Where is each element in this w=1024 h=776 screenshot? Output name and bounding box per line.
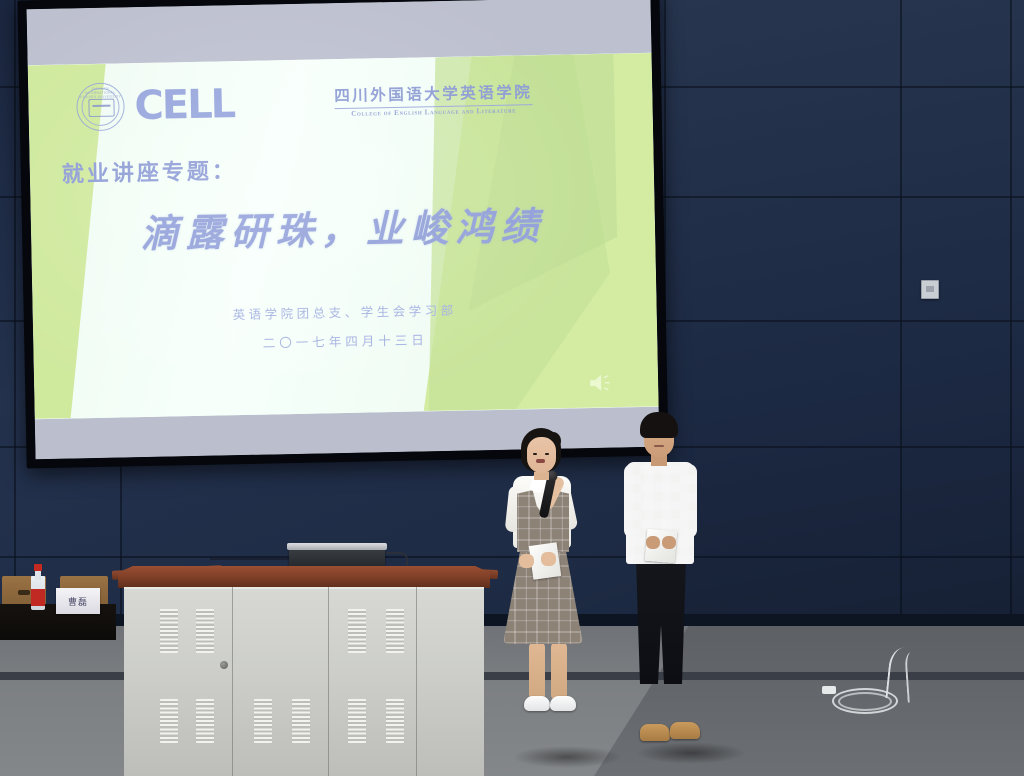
slide-header: SICHUAN INTERNATIONAL STUDIES UNIVERSITY… — [76, 69, 533, 136]
presentation-slide: SICHUAN INTERNATIONAL STUDIES UNIVERSITY… — [27, 0, 660, 459]
hair — [640, 412, 678, 438]
podium-vent — [160, 699, 178, 743]
hand-left — [519, 554, 534, 568]
bottle-neck — [35, 570, 41, 580]
wall-seam — [14, 0, 16, 640]
pants — [636, 560, 686, 684]
bottle-body — [31, 576, 45, 610]
mouth — [536, 459, 545, 463]
slide-topic-label: 就业讲座专题： — [62, 153, 238, 189]
hand-right — [541, 552, 556, 566]
slide-content: SICHUAN INTERNATIONAL STUDIES UNIVERSITY… — [28, 53, 659, 419]
cable-run-secondary — [904, 651, 929, 702]
podium-door-seam — [232, 587, 233, 776]
mouth — [654, 445, 664, 447]
seal-emblem-icon — [88, 99, 114, 118]
podium-vent — [196, 699, 214, 743]
water-bottle[interactable] — [31, 564, 45, 610]
shoe-left — [640, 724, 670, 741]
projection-screen-frame: SICHUAN INTERNATIONAL STUDIES UNIVERSITY… — [17, 0, 668, 468]
chair-slot — [18, 590, 30, 595]
name-placard: 曹磊 — [56, 588, 100, 614]
arm-left — [624, 464, 641, 538]
seal-ring-text: SICHUAN INTERNATIONAL STUDIES UNIVERSITY — [77, 87, 123, 100]
podium-door-seam — [416, 587, 417, 776]
arm-right — [680, 464, 697, 538]
bottle-label — [31, 589, 45, 606]
hand-left — [646, 536, 660, 549]
podium-vent — [386, 699, 404, 743]
coiled-extension-cord-inner — [838, 692, 892, 711]
institution-name-cn: 四川外国语大学英语学院 — [334, 80, 532, 106]
leg-right — [551, 642, 567, 700]
cell-wordmark: CELL — [134, 84, 234, 126]
bottle-cap — [34, 564, 42, 571]
podium-vent — [160, 609, 178, 653]
laptop-lid — [287, 543, 387, 550]
podium-vent — [348, 609, 366, 653]
institution-block: 四川外国语大学英语学院 College of English Language … — [334, 80, 533, 120]
projection-screen-surface[interactable]: SICHUAN INTERNATIONAL STUDIES UNIVERSITY… — [27, 0, 660, 459]
shoe-right — [550, 696, 576, 711]
shoe-right — [670, 722, 700, 739]
multimedia-podium[interactable] — [118, 566, 490, 776]
podium-cabinet — [124, 587, 484, 776]
shoe-left — [524, 696, 550, 711]
podium-door-seam — [328, 587, 329, 776]
auditorium-scene: SICHUAN INTERNATIONAL STUDIES UNIVERSITY… — [0, 0, 1024, 776]
speaker-icon — [588, 371, 614, 394]
podium-wood-top — [118, 566, 490, 588]
face — [527, 437, 556, 473]
podium-lock[interactable] — [220, 661, 228, 669]
male-presenter — [626, 412, 718, 768]
university-seal-icon: SICHUAN INTERNATIONAL STUDIES UNIVERSITY — [76, 83, 125, 132]
hand-right — [662, 536, 676, 549]
podium-vent — [292, 699, 310, 743]
podium-vent — [254, 699, 272, 743]
podium-vent — [348, 699, 366, 743]
eye-left — [533, 453, 537, 455]
wall-switch-plate[interactable] — [921, 280, 939, 299]
podium-vent — [196, 609, 214, 653]
name-placard-text: 曹磊 — [56, 588, 100, 614]
cable-plug[interactable] — [822, 686, 836, 694]
female-presenter — [505, 428, 595, 768]
podium-vent — [386, 609, 404, 653]
eye-right — [545, 453, 549, 455]
leg-left — [529, 642, 545, 700]
